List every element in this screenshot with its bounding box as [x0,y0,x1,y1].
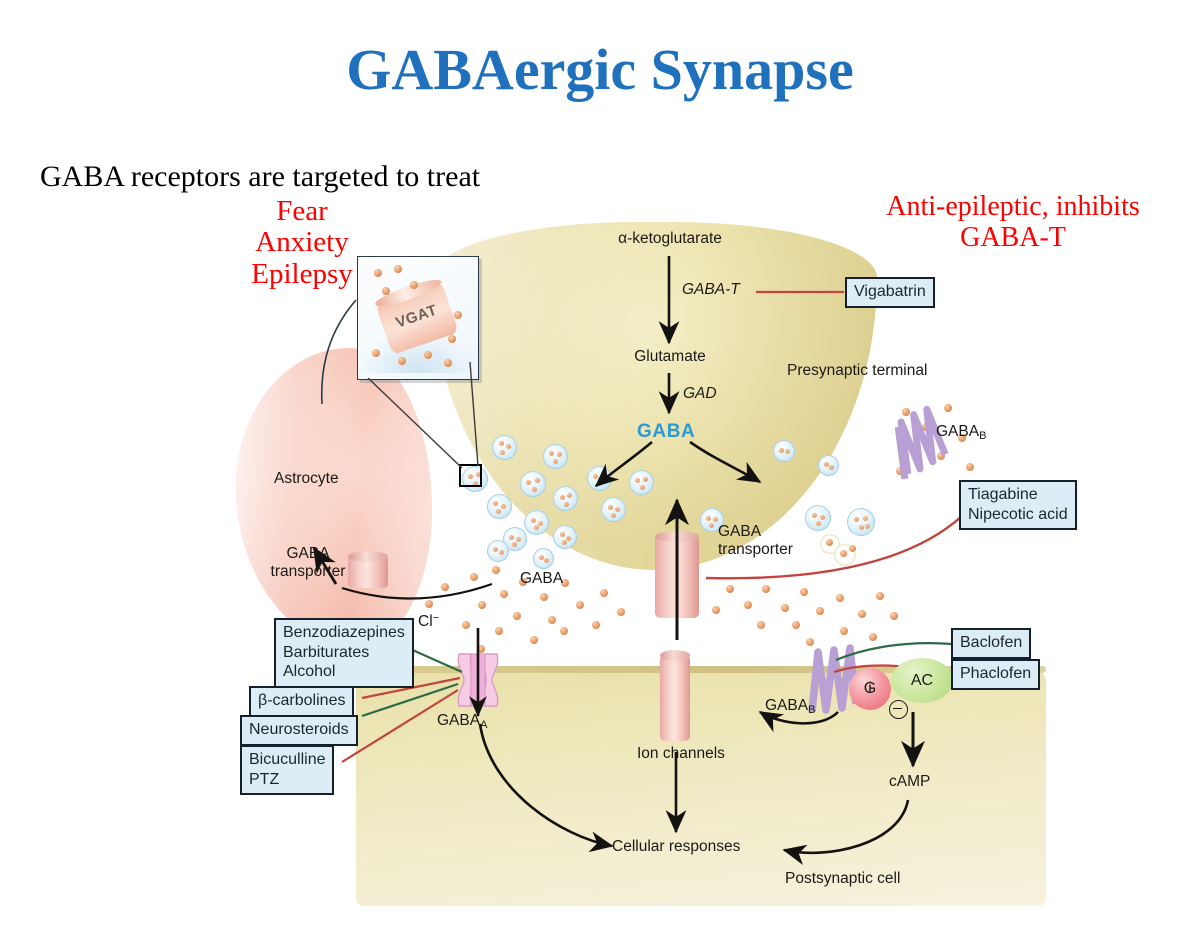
adenylyl-cyclase-label: AC [891,672,953,690]
label-neuronal-gaba-transporter: GABA transporter [718,523,793,560]
label-astrocyte-gaba-transporter: GABA transporter [256,545,360,582]
slide-canvas: GABAergic Synapse GABA receptors are tar… [0,0,1200,927]
connector-benzodiazepines [408,648,462,672]
label-cleft-gaba: GABA [520,570,563,588]
label-camp: cAMP [889,773,930,791]
diagram-overlay [0,0,1200,927]
inset-pointer-curve [322,300,356,404]
arrow-gaba-to-vesicles-right [690,442,760,482]
g-protein-icon: Gi [849,668,891,710]
label-cellular-responses: Cellular responses [612,838,740,856]
label-gaba-a-receptor: GABAA [437,712,487,732]
drug-box-neurosteroids[interactable]: Neurosteroids [240,715,358,746]
drug-box-baclofen[interactable]: Baclofen [951,628,1031,659]
arrow-gaba-to-vesicles-left [596,442,652,486]
drug-box-antagonists[interactable]: Bicuculline PTZ [240,745,334,795]
arrow-camp-to-responses [784,800,908,853]
label-glutamate: Glutamate [615,348,725,366]
label-gaba-t-enzyme: GABA-T [682,281,740,299]
label-presynaptic-terminal: Presynaptic terminal [787,362,927,380]
label-postsynaptic-cell: Postsynaptic cell [785,870,900,888]
inhibition-symbol [889,700,908,719]
label-gaba-b-postsynaptic: GABAB [765,697,815,717]
inset-leader-line-right [470,362,478,466]
label-gad-enzyme: GAD [683,385,717,403]
gaba-b-presynaptic-receptor-icon [892,408,947,479]
label-astrocyte: Astrocyte [274,470,339,488]
label-ion-channels: Ion channels [637,745,725,763]
adenylyl-cyclase-icon: AC [891,658,953,703]
line-cleft-to-astrocyte [342,584,492,598]
label-chloride: Cl− [418,612,439,631]
inset-leader-line-lower [368,378,462,468]
drug-box-phaclofen[interactable]: Phaclofen [951,659,1040,690]
drug-box-vigabatrin[interactable]: Vigabatrin [845,277,935,308]
label-alpha-ketoglutarate: α-ketoglutarate [589,230,751,248]
drug-box-gabaa-positive-modulators[interactable]: Benzodiazepines Barbiturates Alcohol [274,618,414,688]
label-gaba-b-presynaptic: GABAB [936,423,986,443]
drug-box-beta-carbolines[interactable]: β-carbolines [249,686,354,717]
label-gaba-product: GABA [637,421,695,443]
arrow-gabaa-to-cellular-responses [480,724,612,846]
drug-box-tiagabine[interactable]: Tiagabine Nipecotic acid [959,480,1077,530]
